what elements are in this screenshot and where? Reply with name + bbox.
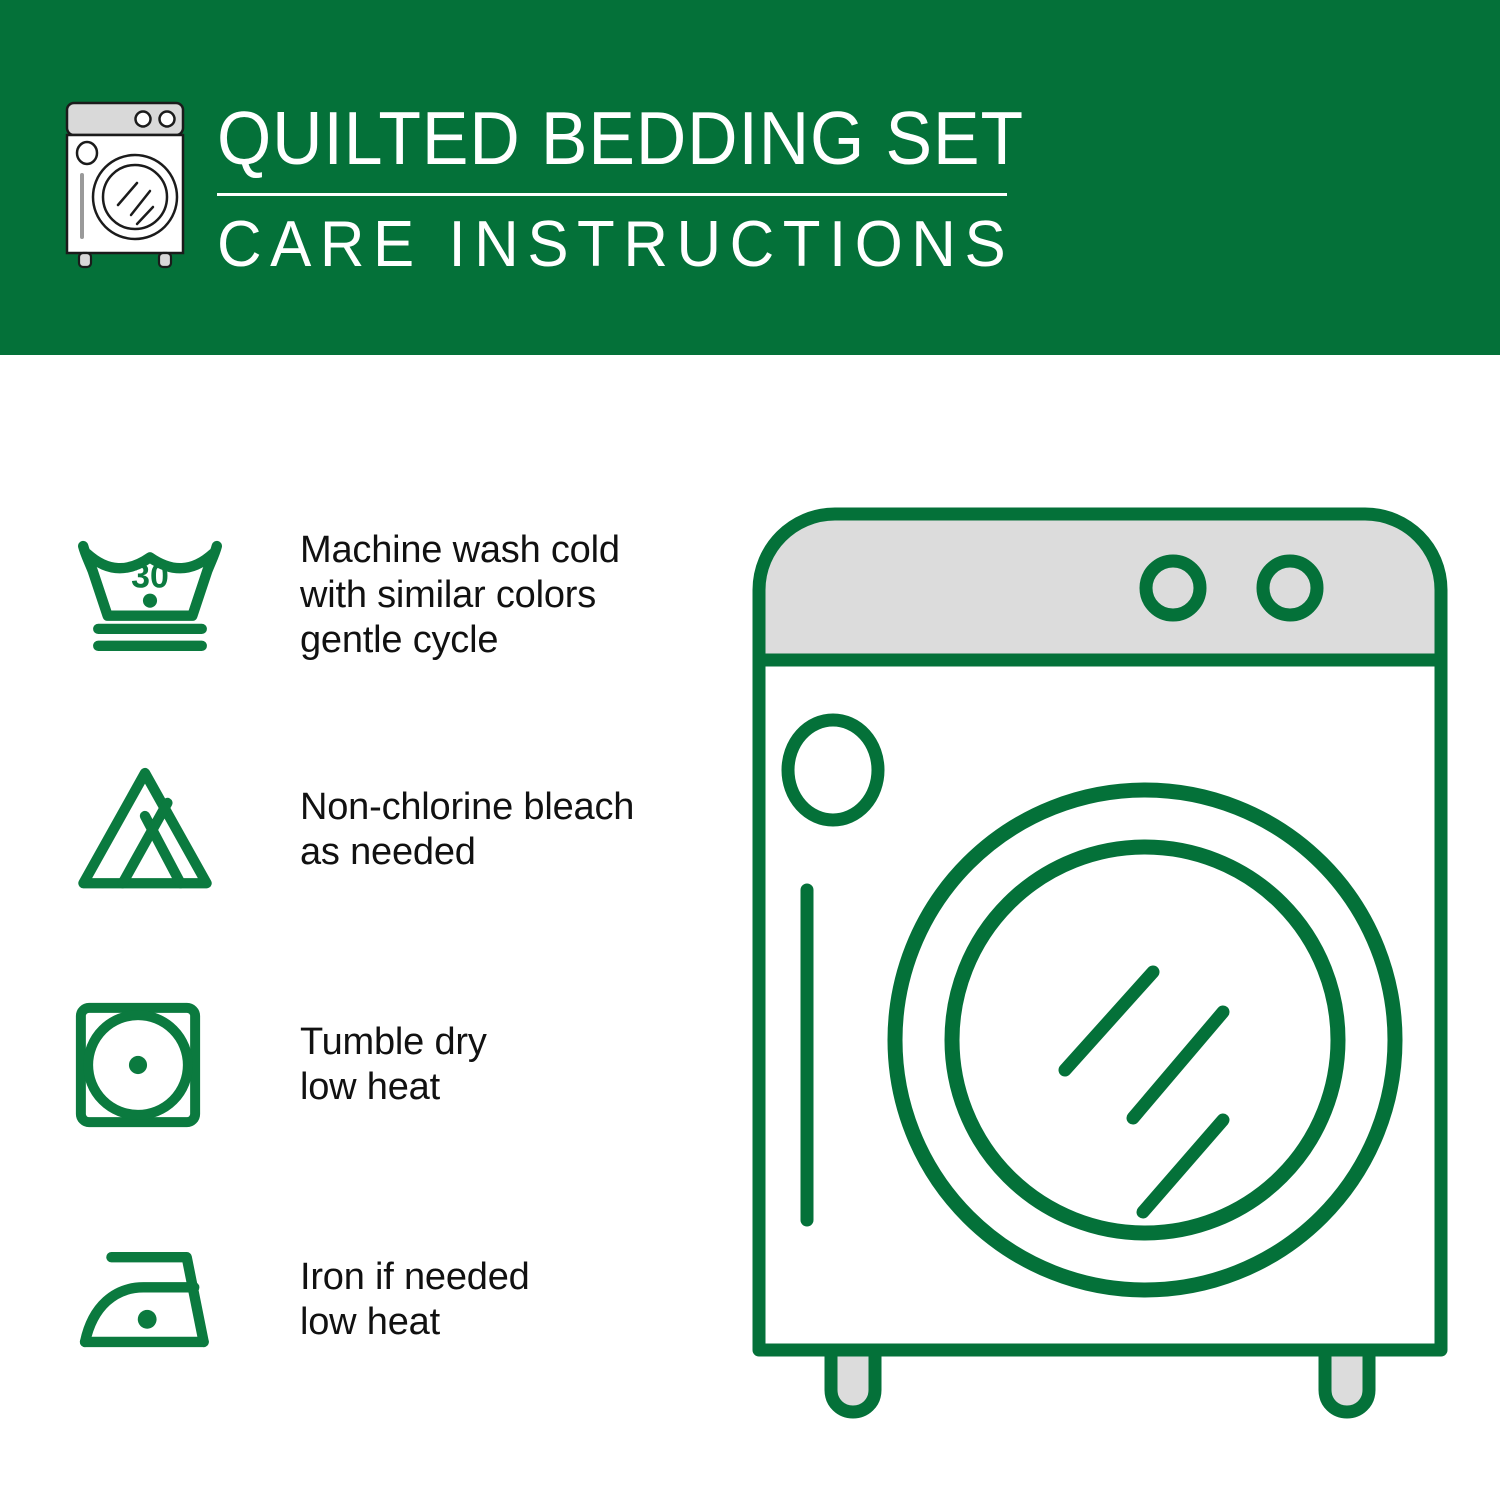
instruction-line: low heat bbox=[300, 1065, 487, 1110]
tumble-dry-low-icon bbox=[70, 997, 245, 1133]
list-item: Tumble dry low heat bbox=[70, 980, 710, 1150]
instruction-line: as needed bbox=[300, 830, 634, 875]
list-item: 30 Machine wash cold with similar colors… bbox=[70, 510, 710, 680]
wash-tub-30-gentle-icon: 30 bbox=[70, 529, 245, 661]
header-title-group: QUILTED BEDDING SET CARE INSTRUCTIONS bbox=[217, 95, 1085, 280]
list-item: Iron if needed low heat bbox=[70, 1215, 710, 1385]
instruction-line: Iron if needed bbox=[300, 1255, 530, 1300]
wash-temperature-label: 30 bbox=[131, 557, 169, 595]
instruction-line: Tumble dry bbox=[300, 1020, 487, 1065]
content-area: 30 Machine wash cold with similar colors… bbox=[0, 355, 1500, 1500]
header-band: QUILTED BEDDING SET CARE INSTRUCTIONS bbox=[0, 0, 1500, 355]
page-subtitle: CARE INSTRUCTIONS bbox=[217, 208, 1041, 280]
instruction-line: Non-chlorine bleach bbox=[300, 785, 634, 830]
front-load-washing-machine-illustration bbox=[745, 500, 1455, 1420]
leg-right bbox=[1325, 1350, 1369, 1412]
instruction-label: Machine wash cold with similar colors ge… bbox=[245, 528, 620, 663]
instruction-line: low heat bbox=[300, 1300, 530, 1345]
instruction-label: Tumble dry low heat bbox=[245, 1020, 487, 1110]
instruction-label: Non-chlorine bleach as needed bbox=[245, 785, 634, 875]
title-divider bbox=[217, 193, 1007, 196]
care-instructions-list: 30 Machine wash cold with similar colors… bbox=[70, 510, 710, 1385]
instruction-line: gentle cycle bbox=[300, 618, 620, 663]
washing-machine-icon bbox=[55, 95, 195, 270]
control-panel bbox=[759, 514, 1441, 660]
list-item: Non-chlorine bleach as needed bbox=[70, 745, 710, 915]
instruction-line: Machine wash cold bbox=[300, 528, 620, 573]
bleach-triangle-striped-icon bbox=[70, 760, 245, 900]
page-title: QUILTED BEDDING SET bbox=[217, 97, 1024, 179]
instruction-label: Iron if needed low heat bbox=[245, 1255, 530, 1345]
leg-left bbox=[831, 1350, 875, 1412]
iron-low-heat-icon bbox=[70, 1244, 245, 1357]
instruction-line: with similar colors bbox=[300, 573, 620, 618]
header-content: QUILTED BEDDING SET CARE INSTRUCTIONS bbox=[55, 95, 1085, 280]
